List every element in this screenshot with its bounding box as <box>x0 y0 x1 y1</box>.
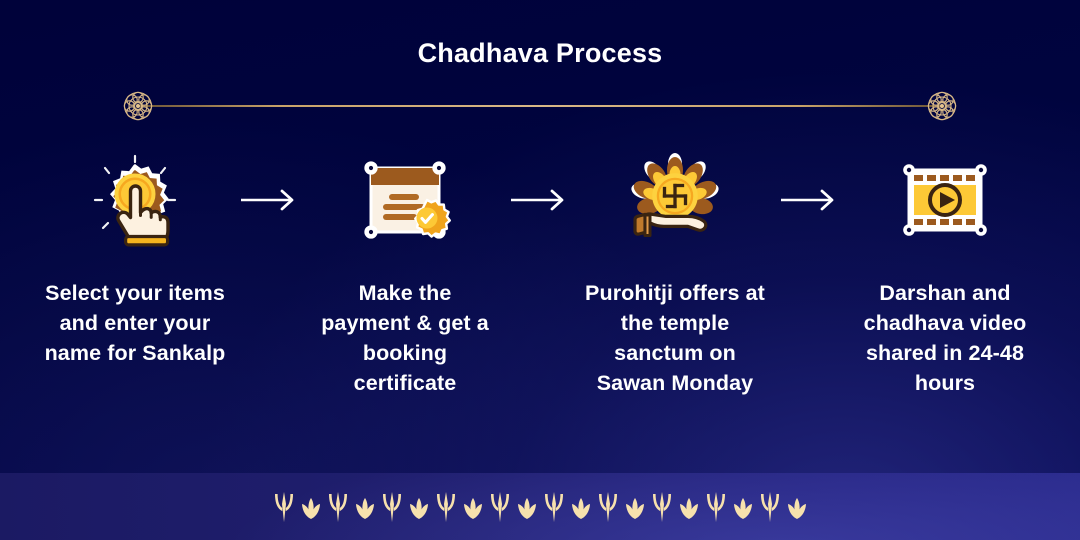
trishul-icon <box>271 488 297 526</box>
trishul-icon <box>541 488 567 526</box>
arrow-right-icon <box>774 148 846 252</box>
trishul-icon <box>649 488 675 526</box>
lotus-icon <box>568 488 594 526</box>
mandala-rosette-icon <box>920 84 964 128</box>
step-caption: Darshan and chadhava video shared in 24-… <box>846 278 1044 398</box>
trishul-icon <box>433 488 459 526</box>
step-caption: Purohitji offers at the temple sanctum o… <box>576 278 774 398</box>
lotus-icon <box>730 488 756 526</box>
lotus-icon <box>622 488 648 526</box>
lotus-icon <box>676 488 702 526</box>
process-steps: Select your items and enter your name fo… <box>36 148 1044 418</box>
process-step-4: Darshan and chadhava video shared in 24-… <box>846 148 1044 398</box>
lotus-icon <box>406 488 432 526</box>
process-step-3: Purohitji offers at the temple sanctum o… <box>576 148 774 398</box>
booking-certificate-icon <box>353 148 457 252</box>
trishul-icon <box>595 488 621 526</box>
process-step-1: Select your items and enter your name fo… <box>36 148 234 368</box>
mandala-rosette-icon <box>116 84 160 128</box>
arrow-right-icon <box>504 148 576 252</box>
page-title: Chadhava Process <box>0 38 1080 69</box>
process-step-2: Make the payment & get a booking certifi… <box>306 148 504 398</box>
lotus-icon <box>460 488 486 526</box>
hand-tap-select-icon <box>83 148 187 252</box>
lotus-icon <box>352 488 378 526</box>
trishul-icon <box>703 488 729 526</box>
trishul-and-lotus-border <box>0 473 1080 540</box>
lotus-icon <box>514 488 540 526</box>
divider-line <box>138 105 942 107</box>
hand-offering-flower-icon <box>623 148 727 252</box>
trishul-icon <box>325 488 351 526</box>
chadhava-process-infographic: Chadhava Process <box>0 0 1080 540</box>
step-caption: Select your items and enter your name fo… <box>36 278 234 368</box>
bottom-decorative-band <box>0 473 1080 540</box>
arrow-right-icon <box>234 148 306 252</box>
decorative-divider <box>138 105 942 107</box>
step-caption: Make the payment & get a booking certifi… <box>306 278 504 398</box>
trishul-icon <box>379 488 405 526</box>
lotus-icon <box>784 488 810 526</box>
video-film-play-icon <box>893 148 997 252</box>
trishul-icon <box>487 488 513 526</box>
lotus-icon <box>298 488 324 526</box>
trishul-icon <box>757 488 783 526</box>
